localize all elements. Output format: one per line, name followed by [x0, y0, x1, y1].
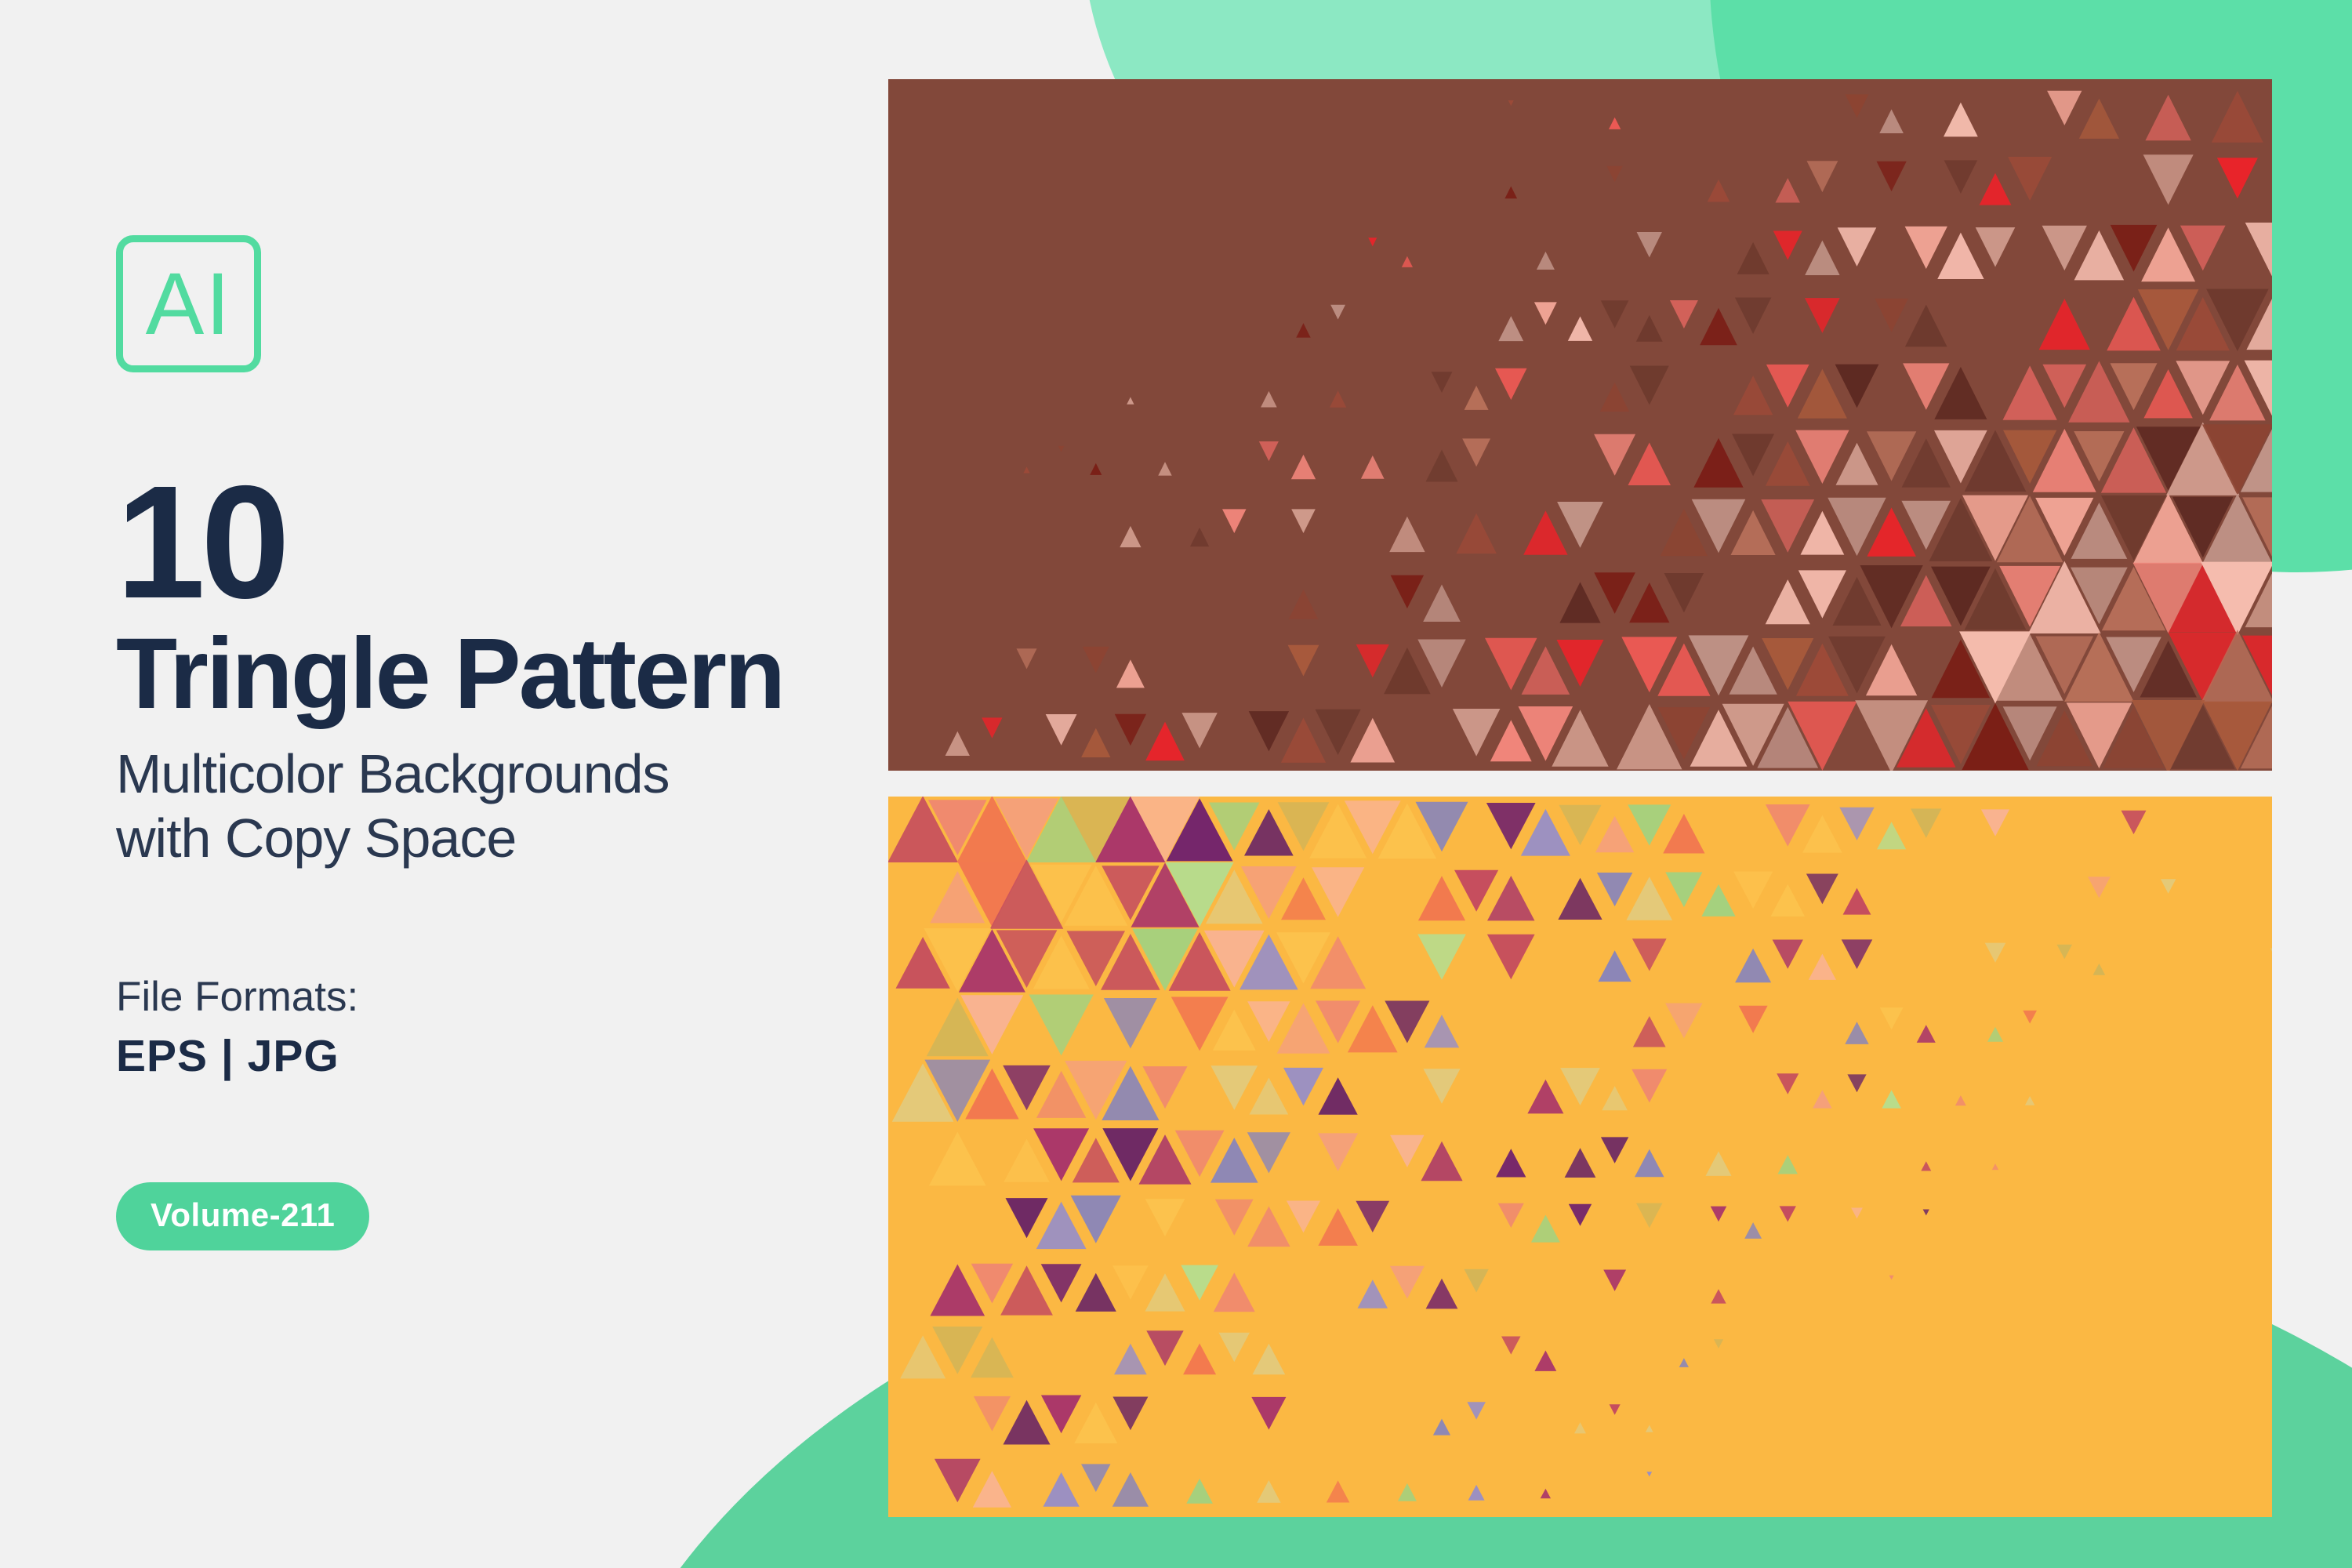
triangle-pattern-orange	[888, 797, 2272, 1517]
page-title: Tringle Pattern	[116, 624, 853, 724]
preview-panel-orange-multicolor[interactable]	[888, 797, 2272, 1517]
file-formats-block: File Formats: EPS | JPG	[116, 973, 853, 1082]
poster-canvas: AI 10 Tringle Pattern Multicolor Backgro…	[0, 0, 2352, 1568]
ai-badge-label: AI	[146, 260, 232, 348]
ai-format-badge-icon: AI	[116, 235, 261, 372]
item-count: 10	[116, 466, 853, 619]
triangle-pattern-brown	[888, 79, 2272, 771]
page-subtitle: Multicolor Backgrounds with Copy Space	[116, 742, 853, 871]
file-formats-value: EPS | JPG	[116, 1030, 853, 1082]
info-column: AI 10 Tringle Pattern Multicolor Backgro…	[116, 235, 853, 1250]
file-formats-label: File Formats:	[116, 973, 853, 1021]
preview-panel-brown-red[interactable]	[888, 79, 2272, 771]
volume-badge: Volume-211	[116, 1182, 369, 1250]
